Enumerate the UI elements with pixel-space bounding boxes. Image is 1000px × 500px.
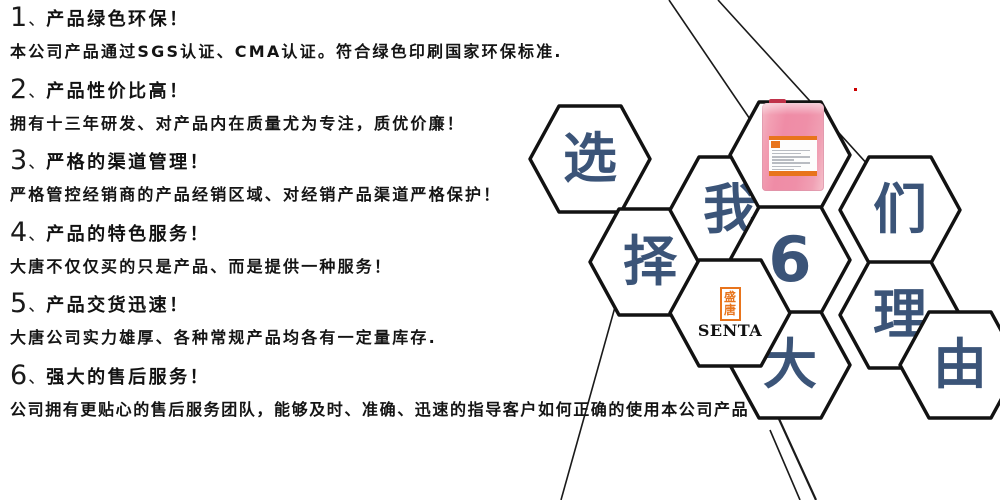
- reason-title: 严格的渠道管理！: [46, 154, 210, 172]
- promo-banner: 1 、 产品绿色环保！ 本公司产品通过SGS认证、CMA认证。符合绿色印刷国家环…: [0, 0, 1000, 500]
- label-line: [772, 153, 801, 155]
- reason-separator: 、: [28, 227, 45, 244]
- reason-separator: 、: [28, 84, 45, 101]
- reason-heading: 2 、 产品性价比高！: [10, 76, 700, 106]
- reason-body: 大唐公司实力雄厚、各种常规产品均各有一定量库存.: [10, 327, 700, 349]
- can-highlight: [762, 103, 824, 115]
- label-line: [772, 169, 794, 171]
- reason-number: 1: [10, 4, 27, 31]
- stray-red-dot: [854, 88, 857, 91]
- reason-title: 产品绿色环保！: [46, 11, 190, 29]
- reason-heading: 1 、 产品绿色环保！: [10, 4, 700, 34]
- reason-number: 4: [10, 219, 27, 246]
- label-line: [772, 150, 810, 152]
- hex-cell-xuan[interactable]: 选: [528, 104, 652, 214]
- hex-cell-logo[interactable]: 盛 唐 SENTA: [668, 258, 792, 368]
- label-line: [772, 166, 801, 168]
- label-line: [772, 156, 810, 158]
- hex-cell-you[interactable]: 由: [898, 310, 1000, 420]
- reason-item: 1 、 产品绿色环保！ 本公司产品通过SGS认证、CMA认证。符合绿色印刷国家环…: [10, 4, 700, 63]
- logo-wordmark: SENTA: [698, 322, 762, 340]
- reason-title: 产品性价比高！: [46, 83, 190, 101]
- reason-title: 产品的特色服务！: [46, 226, 210, 244]
- reason-body: 本公司产品通过SGS认证、CMA认证。符合绿色印刷国家环保标准.: [10, 41, 700, 63]
- reason-body: 公司拥有更贴心的售后服务团队，能够及时、准确、迅速的指导客户如何正确的使用本公司…: [10, 399, 700, 421]
- reason-number: 2: [10, 76, 27, 103]
- can-label: [769, 136, 817, 176]
- reason-separator: 、: [28, 12, 45, 29]
- label-brand-block: [771, 141, 780, 148]
- reason-number: 3: [10, 147, 27, 174]
- label-line: [772, 162, 810, 164]
- product-image-jerrycan: [762, 103, 824, 191]
- hex-label: 由: [898, 310, 1000, 420]
- reason-separator: 、: [28, 370, 45, 387]
- hex-cell-men[interactable]: 们: [838, 155, 962, 265]
- reason-number: 6: [10, 362, 27, 389]
- logo-mark-char-2: 唐: [724, 304, 736, 317]
- reason-title: 产品交货迅速！: [46, 297, 190, 315]
- reason-item: 6 、 强大的售后服务！ 公司拥有更贴心的售后服务团队，能够及时、准确、迅速的指…: [10, 362, 700, 421]
- hex-label: 选: [528, 104, 652, 214]
- reason-separator: 、: [28, 298, 45, 315]
- reason-separator: 、: [28, 155, 45, 172]
- reason-number: 5: [10, 290, 27, 317]
- hex-label: 们: [838, 155, 962, 265]
- senta-logo: 盛 唐 SENTA: [668, 258, 792, 368]
- logo-mark-char-1: 盛: [724, 291, 736, 304]
- reason-title: 强大的售后服务！: [46, 369, 210, 387]
- logo-mark-icon: 盛 唐: [720, 287, 741, 321]
- label-line: [772, 159, 794, 161]
- reason-heading: 6 、 强大的售后服务！: [10, 362, 700, 392]
- can-body: [762, 103, 824, 191]
